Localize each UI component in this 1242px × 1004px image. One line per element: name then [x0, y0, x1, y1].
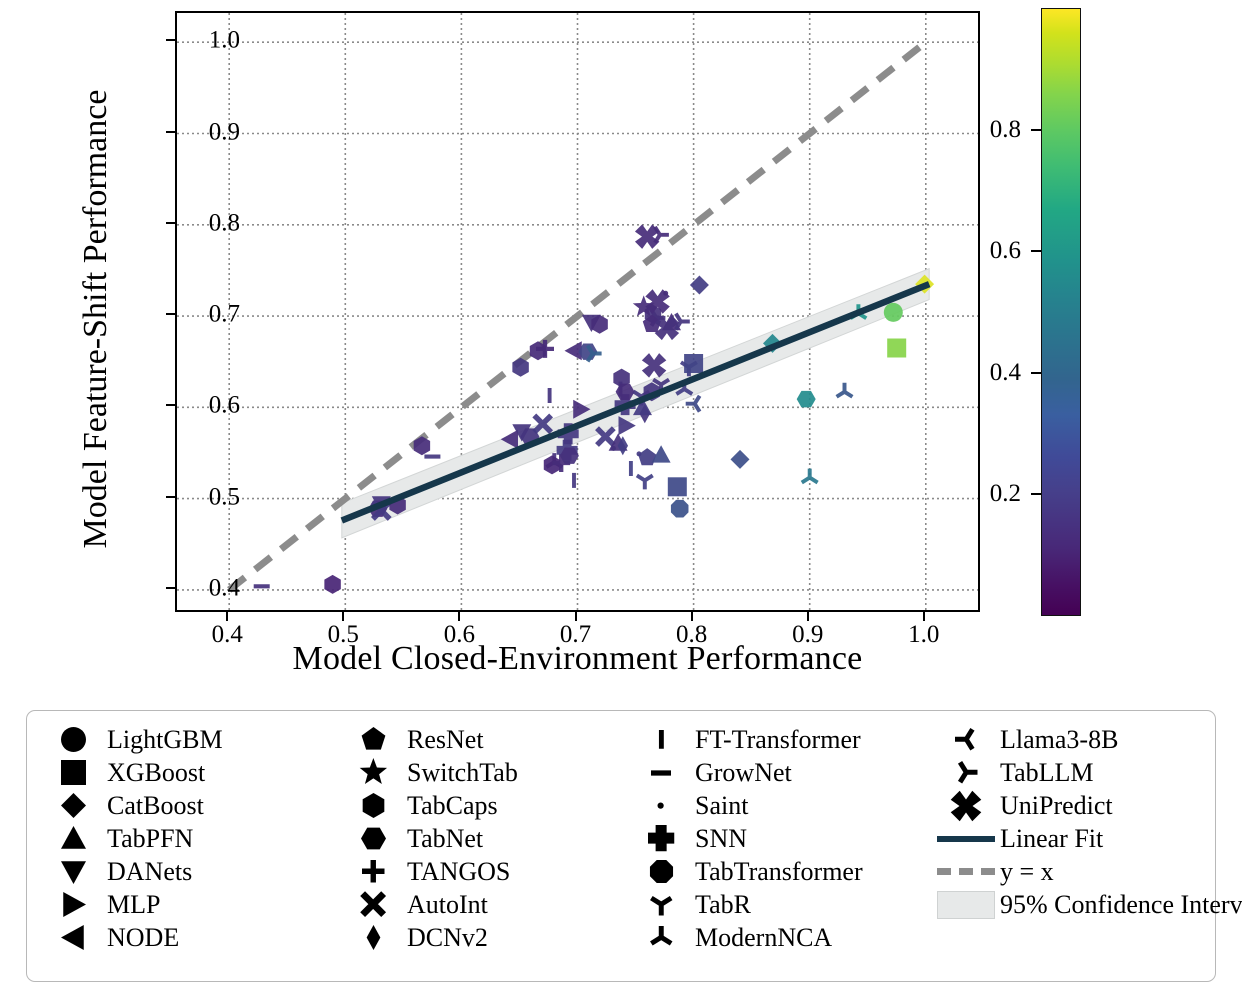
diamond-icon — [39, 790, 107, 821]
legend-item[interactable]: TabCaps — [339, 789, 627, 822]
y-tick-mark — [166, 587, 175, 589]
y-tick-label: 0.8 — [209, 210, 240, 235]
x-tick-mark — [807, 612, 809, 621]
y-tick-label: 0.4 — [209, 575, 240, 600]
legend-item-label: 95% Confidence Interval — [1000, 892, 1242, 918]
legend-item-label: DCNv2 — [407, 925, 488, 951]
legend-item[interactable]: 95% Confidence Interval — [932, 888, 1200, 921]
tri-right-icon — [932, 758, 1000, 787]
legend-item[interactable]: TabR — [627, 888, 932, 921]
x-filled-icon — [932, 788, 1000, 824]
legend-item-label: TabCaps — [407, 793, 498, 819]
x-tick-mark — [458, 612, 460, 621]
y-tick-mark — [166, 39, 175, 41]
colorbar-tick-label: 0.2 — [990, 480, 1021, 508]
legend-item-label: FT-Transformer — [695, 727, 861, 753]
confidence-band-swatch — [937, 891, 995, 919]
legend-item[interactable]: TabLLM — [932, 756, 1200, 789]
y-axis-label: Model Feature-Shift Performance — [77, 9, 115, 629]
pentagon-icon — [339, 724, 407, 755]
y-tick-label: 0.5 — [209, 484, 240, 509]
y-tick-mark — [166, 313, 175, 315]
legend-item-label: AutoInt — [407, 892, 488, 918]
plus-thin-icon — [339, 857, 407, 886]
legend-item[interactable]: TANGOS — [339, 855, 627, 888]
star-icon — [339, 755, 407, 790]
legend-item[interactable]: ModernNCA — [627, 921, 932, 954]
point-icon — [627, 797, 695, 814]
vline-icon — [627, 727, 695, 752]
line-solid-icon — [932, 836, 1000, 842]
legend-item[interactable]: Llama3-8B — [932, 723, 1200, 756]
legend-item-label: TabR — [695, 892, 751, 918]
legend-item-label: XGBoost — [107, 760, 205, 786]
legend-item[interactable]: TabTransformer — [627, 855, 932, 888]
tri-down-icon — [627, 923, 695, 952]
legend-item[interactable]: CatBoost — [39, 789, 339, 822]
plot-canvas — [177, 13, 978, 610]
legend-item[interactable]: y = x — [932, 855, 1200, 888]
y-tick-label: 1.0 — [209, 28, 240, 53]
colorbar-tick-mark — [1031, 493, 1041, 495]
colorbar-tick-label: 0.8 — [990, 116, 1021, 144]
triangle-up-icon — [39, 823, 107, 854]
square-icon — [39, 757, 107, 788]
tri-left-icon — [932, 725, 1000, 754]
legend-item[interactable]: SwitchTab — [339, 756, 627, 789]
legend-item-label: UniPredict — [1000, 793, 1113, 819]
thin-diamond-icon — [339, 922, 407, 953]
legend-item[interactable]: MLP — [39, 888, 339, 921]
y-tick-label: 0.7 — [209, 302, 240, 327]
tri-up-icon — [627, 890, 695, 919]
circle-icon — [39, 724, 107, 755]
legend-item-label: Linear Fit — [1000, 826, 1103, 852]
colorbar-tick-mark — [1031, 372, 1041, 374]
triangle-right-icon — [39, 889, 107, 920]
legend-item[interactable]: LightGBM — [39, 723, 339, 756]
plot-area — [175, 11, 980, 612]
colorbar-tick-mark — [1031, 250, 1041, 252]
legend-item[interactable]: XGBoost — [39, 756, 339, 789]
colorbar-tick-label: 0.4 — [990, 359, 1021, 387]
legend-item-label: ModernNCA — [695, 925, 832, 951]
x-tick-mark — [575, 612, 577, 621]
hline-icon — [627, 760, 695, 786]
legend-item[interactable]: TabNet — [339, 822, 627, 855]
legend-item-label: NODE — [107, 925, 179, 951]
linear-fit-swatch — [937, 836, 995, 842]
colorbar-tick-mark — [1031, 129, 1041, 131]
legend-item[interactable]: TabPFN — [39, 822, 339, 855]
y-tick-mark — [166, 131, 175, 133]
legend-item[interactable]: DANets — [39, 855, 339, 888]
legend-item-label: MLP — [107, 892, 160, 918]
x-tick-mark — [226, 612, 228, 621]
legend-item-label: SwitchTab — [407, 760, 518, 786]
legend-item[interactable]: AutoInt — [339, 888, 627, 921]
colorbar: 0.20.40.60.8 — [1041, 8, 1081, 616]
legend-item[interactable]: ResNet — [339, 723, 627, 756]
octagon-icon — [627, 856, 695, 887]
legend-item[interactable]: Saint — [627, 789, 932, 822]
legend-item[interactable]: GrowNet — [627, 756, 932, 789]
plus-filled-icon — [627, 822, 695, 854]
legend-item[interactable]: FT-Transformer — [627, 723, 932, 756]
legend-item-label: TabTransformer — [695, 859, 863, 885]
triangle-down-icon — [39, 856, 107, 887]
legend-item-label: SNN — [695, 826, 747, 852]
hexagon1-icon — [339, 790, 407, 821]
legend-item[interactable]: Linear Fit — [932, 822, 1200, 855]
legend-item-label: Saint — [695, 793, 748, 819]
x-tick-mark — [691, 612, 693, 621]
legend-item-label: TabNet — [407, 826, 483, 852]
legend-item-label: GrowNet — [695, 760, 792, 786]
x-tick-mark — [342, 612, 344, 621]
legend-item-label: Llama3-8B — [1000, 727, 1118, 753]
colorbar-gradient — [1041, 8, 1081, 616]
legend-grid: LightGBMXGBoostCatBoostTabPFNDANetsMLPNO… — [39, 723, 1203, 969]
line-dashed-icon — [932, 868, 1000, 875]
legend-box: LightGBMXGBoostCatBoostTabPFNDANetsMLPNO… — [26, 710, 1216, 982]
legend-item[interactable]: NODE — [39, 921, 339, 954]
y-tick-mark — [166, 496, 175, 498]
legend-item[interactable]: SNN — [627, 822, 932, 855]
y-tick-label: 0.9 — [209, 119, 240, 144]
legend-item-label: TabLLM — [1000, 760, 1094, 786]
legend-item-label: TabPFN — [107, 826, 193, 852]
legend-item-label: TANGOS — [407, 859, 510, 885]
legend-item-label: LightGBM — [107, 727, 223, 753]
identity-line-swatch — [937, 868, 995, 875]
hexagon2-icon — [339, 823, 407, 854]
y-tick-mark — [166, 222, 175, 224]
scatter-plot-figure: Model Feature-Shift Performance 0.40.50.… — [0, 0, 1242, 1004]
legend-item[interactable]: UniPredict — [932, 789, 1200, 822]
patch-icon — [932, 891, 1000, 919]
colorbar-tick-label: 0.6 — [990, 237, 1021, 265]
legend-item-label: ResNet — [407, 727, 484, 753]
x-tick-mark — [923, 612, 925, 621]
x-axis-label: Model Closed-Environment Performance — [175, 640, 980, 678]
legend-item-label: y = x — [1000, 859, 1054, 885]
legend-item-label: CatBoost — [107, 793, 204, 819]
y-tick-mark — [166, 404, 175, 406]
y-tick-label: 0.6 — [209, 393, 240, 418]
legend-item[interactable]: DCNv2 — [339, 921, 627, 954]
x-thick-icon — [339, 888, 407, 920]
triangle-left-icon — [39, 922, 107, 953]
legend-item-label: DANets — [107, 859, 192, 885]
